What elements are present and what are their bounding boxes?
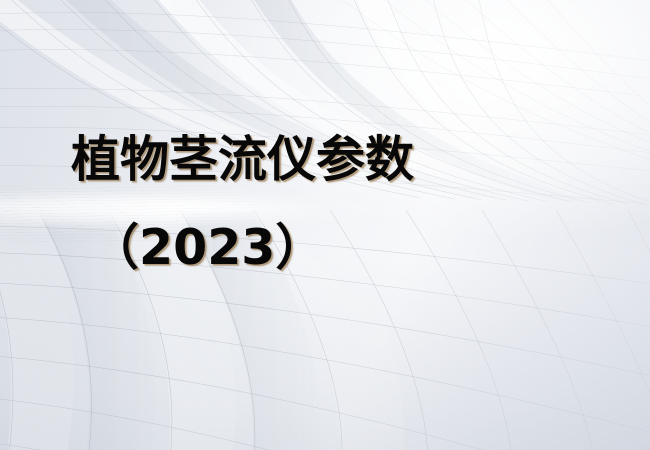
slide-title-block: 植物茎流仪参数 （2023）: [0, 0, 650, 450]
slide-title-primary: 植物茎流仪参数: [71, 134, 414, 186]
slide-title-year: （2023）: [90, 222, 324, 274]
title-slide: 植物茎流仪参数 （2023）: [0, 0, 650, 450]
